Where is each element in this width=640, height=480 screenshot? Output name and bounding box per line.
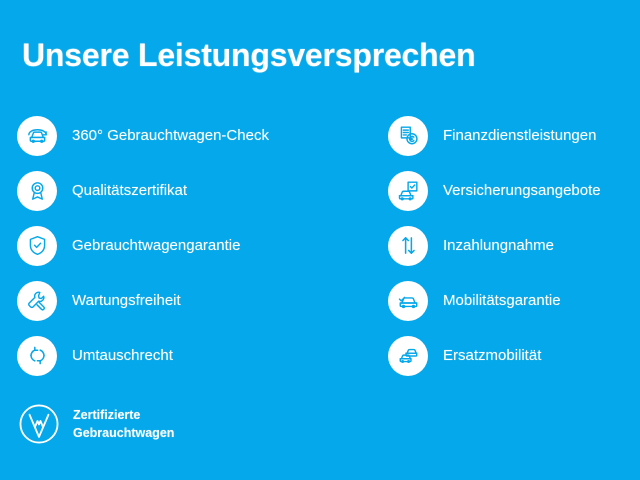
benefit-label: Mobilitätsgarantie [443, 292, 561, 309]
document-euro-icon [388, 116, 428, 156]
benefit-label: Inzahlungnahme [443, 237, 554, 254]
footer-line-1: Zertifizierte [73, 408, 140, 422]
benefit-label: Wartungsfreiheit [72, 292, 181, 309]
footer-brand-text: Zertifizierte Gebrauchtwagen [73, 406, 174, 442]
page-title: Unsere Leistungsversprechen [22, 36, 475, 74]
benefit-item-exchange-right[interactable]: Umtauschrecht [17, 328, 377, 383]
wrench-tools-icon [17, 281, 57, 321]
benefit-label: Versicherungsangebote [443, 182, 601, 199]
award-rosette-icon [17, 171, 57, 211]
promo-panel: Unsere Leistungsversprechen 360° Gebrauc… [0, 0, 640, 480]
benefit-item-maintenance[interactable]: Wartungsfreiheit [17, 273, 377, 328]
arrows-up-down-icon [388, 226, 428, 266]
shield-check-icon [17, 226, 57, 266]
benefit-label: Umtauschrecht [72, 347, 173, 364]
benefit-item-insurance[interactable]: Versicherungsangebote [388, 163, 638, 218]
benefit-item-financial-services[interactable]: Finanzdienstleistungen [388, 108, 638, 163]
benefit-label: Qualitätszertifikat [72, 182, 187, 199]
benefit-label: 360° Gebrauchtwagen-Check [72, 127, 269, 144]
benefit-item-replacement-mobility[interactable]: Ersatzmobilität [388, 328, 638, 383]
benefit-label: Ersatzmobilität [443, 347, 541, 364]
benefit-item-trade-in[interactable]: Inzahlungnahme [388, 218, 638, 273]
benefit-item-warranty[interactable]: Gebrauchtwagengarantie [17, 218, 377, 273]
benefit-item-360-check[interactable]: 360° Gebrauchtwagen-Check [17, 108, 377, 163]
benefit-item-mobility-guarantee[interactable]: Mobilitätsgarantie [388, 273, 638, 328]
car-document-check-icon [388, 171, 428, 211]
benefit-label: Gebrauchtwagengarantie [72, 237, 240, 254]
benefits-left-column: 360° Gebrauchtwagen-Check Qualitätszerti… [17, 108, 377, 383]
car-inspection-360-icon [17, 116, 57, 156]
exchange-arrows-icon [17, 336, 57, 376]
benefit-label: Finanzdienstleistungen [443, 127, 596, 144]
benefit-item-quality-certificate[interactable]: Qualitätszertifikat [17, 163, 377, 218]
car-check-icon [388, 281, 428, 321]
two-cars-icon [388, 336, 428, 376]
footer-brand: Zertifizierte Gebrauchtwagen [18, 403, 174, 445]
benefits-right-column: Finanzdienstleistungen Versicherungsange… [388, 108, 638, 383]
footer-line-2: Gebrauchtwagen [73, 426, 174, 440]
volkswagen-logo-icon [18, 403, 60, 445]
